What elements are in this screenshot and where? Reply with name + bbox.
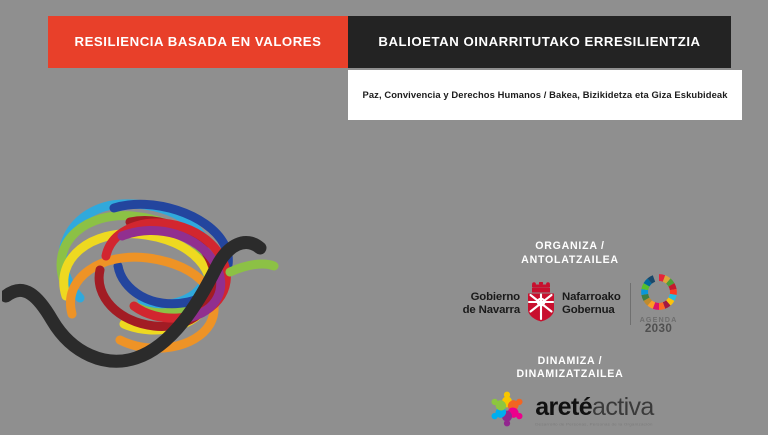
title-text-spanish: RESILIENCIA BASADA EN VALORES — [75, 35, 322, 50]
areto-activa-wordmark: aretéactiva Desarrollo de Personas, Pers… — [535, 395, 654, 427]
agenda-year: 2030 — [640, 323, 678, 335]
navarra-coat-of-arms-icon — [524, 282, 558, 327]
gobierno-de-navarra-logo: Gobierno de Navarra — [463, 282, 621, 327]
areto-word-bold: areté — [535, 393, 592, 421]
dinamiza-heading: DINAMIZA / DINAMIZATZAILEA — [517, 355, 624, 382]
title-banner-spanish: RESILIENCIA BASADA EN VALORES — [48, 16, 348, 68]
interwoven-ribbons-graphic — [2, 178, 302, 368]
gn-right-line1: Nafarroako — [562, 291, 621, 303]
dinamiza-heading-line2: DINAMIZATZAILEA — [517, 368, 624, 380]
areto-activa-name: aretéactiva — [535, 395, 654, 420]
agenda-2030-logo: AGENDA 2030 — [640, 274, 678, 335]
agenda-2030-caption: AGENDA 2030 — [640, 316, 678, 335]
organiza-heading-line2: ANTOLATZAILEA — [521, 254, 619, 266]
areto-activa-logo: aretéactiva Desarrollo de Personas, Pers… — [486, 388, 654, 435]
gobierno-navarra-text-es: Gobierno de Navarra — [463, 291, 520, 318]
gn-left-line1: Gobierno — [471, 291, 520, 303]
gn-left-line2: de Navarra — [463, 304, 520, 316]
organiza-logos: Gobierno de Navarra — [463, 274, 678, 335]
title-text-basque: BALIOETAN OINARRITUTAKO ERRESILIENTZIA — [378, 35, 700, 50]
sdg-color-wheel-icon — [641, 274, 677, 315]
areto-activa-tagline: Desarrollo de Personas, Personas de la O… — [535, 422, 652, 427]
credits-block: ORGANIZA / ANTOLATZAILEA Gobierno de Nav… — [420, 240, 720, 435]
dinamiza-heading-line1: DINAMIZA / — [538, 355, 603, 367]
subtitle-text: Paz, Convivencia y Derechos Humanos / Ba… — [362, 89, 727, 100]
organiza-heading: ORGANIZA / ANTOLATZAILEA — [521, 240, 619, 267]
subtitle-banner: Paz, Convivencia y Derechos Humanos / Ba… — [348, 70, 742, 120]
slide-canvas: RESILIENCIA BASADA EN VALORES BALIOETAN … — [0, 0, 768, 432]
people-circle-icon — [486, 388, 528, 435]
gobierno-navarra-text-eu: Nafarroako Gobernua — [562, 291, 621, 318]
organiza-heading-line1: ORGANIZA / — [535, 240, 605, 252]
areto-word-light: activa — [592, 393, 654, 421]
logo-divider — [630, 283, 631, 325]
title-banner-basque: BALIOETAN OINARRITUTAKO ERRESILIENTZIA — [348, 16, 731, 68]
gn-right-line2: Gobernua — [562, 304, 615, 316]
